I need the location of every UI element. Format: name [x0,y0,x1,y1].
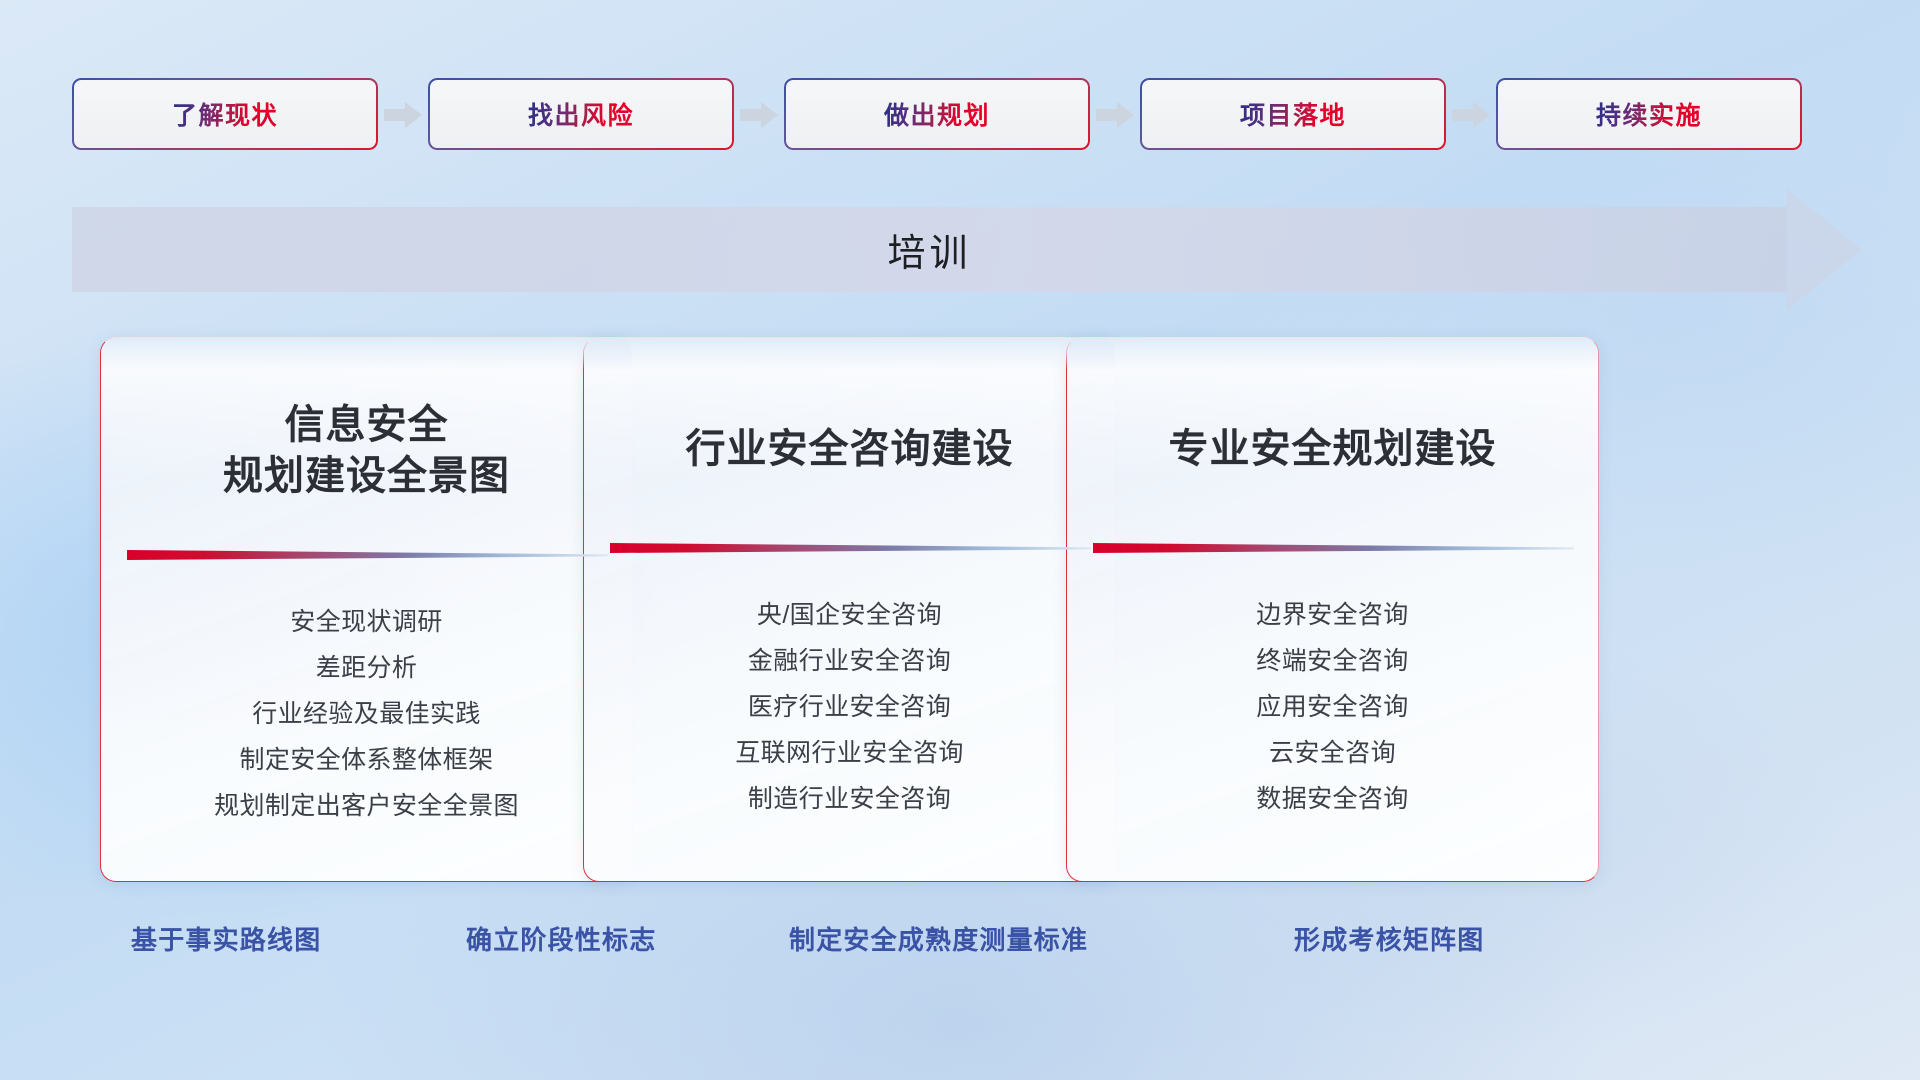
list-item: 金融行业安全咨询 [584,639,1115,685]
step-arrow-icon-4 [1446,78,1496,150]
list-item: 央/国企安全咨询 [584,593,1115,639]
card-title-line-1: 专业安全规划建设 [1067,424,1598,475]
list-item: 制造行业安全咨询 [584,777,1115,823]
list-item: 医疗行业安全咨询 [584,685,1115,731]
footer-label-maturity: 制定安全成熟度测量标准 [789,920,1088,957]
card-title: 行业安全咨询建设 [584,424,1115,475]
step-label: 项目落地 [1240,96,1346,132]
service-cards: 信息安全 规划建设全景图 [0,337,1920,882]
training-banner: 培训 [72,207,1862,292]
list-item: 差距分析 [101,646,632,692]
step-box-3[interactable]: 做出规划 [784,78,1090,150]
card-item-list: 央/国企安全咨询 金融行业安全咨询 医疗行业安全咨询 互联网行业安全咨询 制造行… [584,593,1115,823]
card-item-list: 安全现状调研 差距分析 行业经验及最佳实践 制定安全体系整体框架 规划制定出客户… [101,600,632,830]
banner-title: 培训 [72,207,1787,292]
step-box-1[interactable]: 了解现状 [72,78,378,150]
card-information-security[interactable]: 信息安全 规划建设全景图 [100,337,633,882]
list-item: 行业经验及最佳实践 [101,692,632,738]
slide-canvas: 了解现状 找出风险 做出规划 项目落地 持续实施 [0,0,1920,1080]
card-divider [610,541,1089,555]
list-item: 规划制定出客户安全全景图 [101,784,632,830]
card-title-line-1: 信息安全 [101,400,632,451]
card-title-line-2: 规划建设全景图 [101,451,632,502]
card-divider [1093,541,1572,555]
step-box-4[interactable]: 项目落地 [1140,78,1446,150]
step-label: 找出风险 [528,96,634,132]
list-item: 应用安全咨询 [1067,685,1598,731]
list-item: 终端安全咨询 [1067,639,1598,685]
step-box-5[interactable]: 持续实施 [1496,78,1802,150]
list-item: 制定安全体系整体框架 [101,738,632,784]
step-arrow-icon-1 [378,78,428,150]
footer-label-milestone: 确立阶段性标志 [466,920,656,957]
list-item: 数据安全咨询 [1067,777,1598,823]
banner-arrow-icon [1787,189,1862,310]
step-label: 了解现状 [172,96,278,132]
step-box-2[interactable]: 找出风险 [428,78,734,150]
list-item: 边界安全咨询 [1067,593,1598,639]
footer-label-roadmap: 基于事实路线图 [131,920,321,957]
card-title: 专业安全规划建设 [1067,424,1598,475]
card-title-line-1: 行业安全咨询建设 [584,424,1115,475]
list-item: 云安全咨询 [1067,731,1598,777]
card-item-list: 边界安全咨询 终端安全咨询 应用安全咨询 云安全咨询 数据安全咨询 [1067,593,1598,823]
card-industry-security-consulting[interactable]: 行业安全咨询建设 [583,337,1116,882]
card-divider [127,548,606,562]
step-label: 做出规划 [884,96,990,132]
footer-labels: 基于事实路线图 确立阶段性标志 制定安全成熟度测量标准 形成考核矩阵图 [0,920,1920,980]
list-item: 安全现状调研 [101,600,632,646]
step-arrow-icon-3 [1090,78,1140,150]
process-steps: 了解现状 找出风险 做出规划 项目落地 持续实施 [72,78,1856,150]
card-title: 信息安全 规划建设全景图 [101,400,632,502]
footer-label-matrix: 形成考核矩阵图 [1294,920,1484,957]
step-label: 持续实施 [1596,96,1702,132]
step-arrow-icon-2 [734,78,784,150]
list-item: 互联网行业安全咨询 [584,731,1115,777]
card-professional-security-planning[interactable]: 专业安全规划建设 [1066,337,1599,882]
